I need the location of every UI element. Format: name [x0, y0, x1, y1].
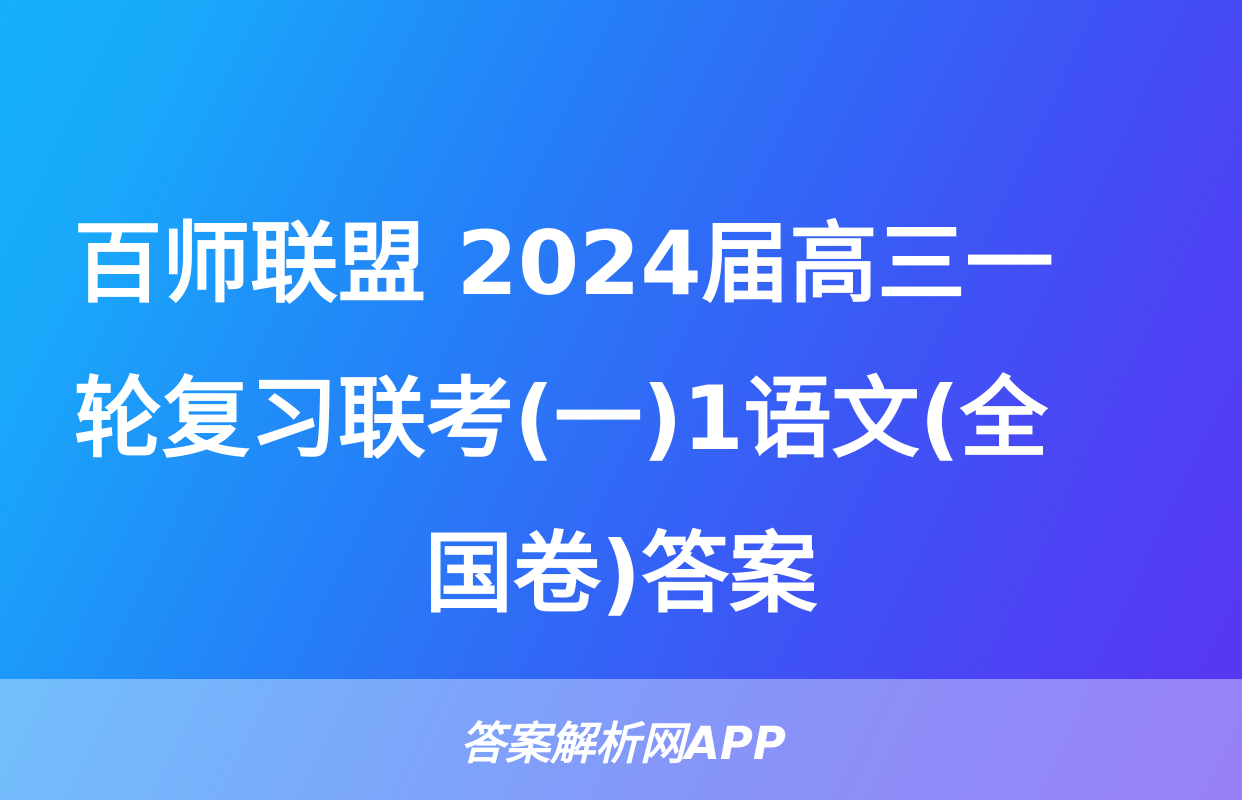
title-line-2: 轮复习联考(一)1语文(全	[74, 341, 1168, 496]
footer-brand-bar: 答案解析网APP	[0, 679, 1242, 800]
poster-card: 百师联盟 2024届高三一 轮复习联考(一)1语文(全 国卷)答案 答案解析网A…	[0, 0, 1242, 800]
app-brand-label: 答案解析网APP	[460, 707, 786, 772]
title-line-1: 百师联盟 2024届高三一	[74, 186, 1168, 341]
title-line-3: 国卷)答案	[74, 496, 1168, 651]
page-title: 百师联盟 2024届高三一 轮复习联考(一)1语文(全 国卷)答案	[74, 186, 1168, 651]
